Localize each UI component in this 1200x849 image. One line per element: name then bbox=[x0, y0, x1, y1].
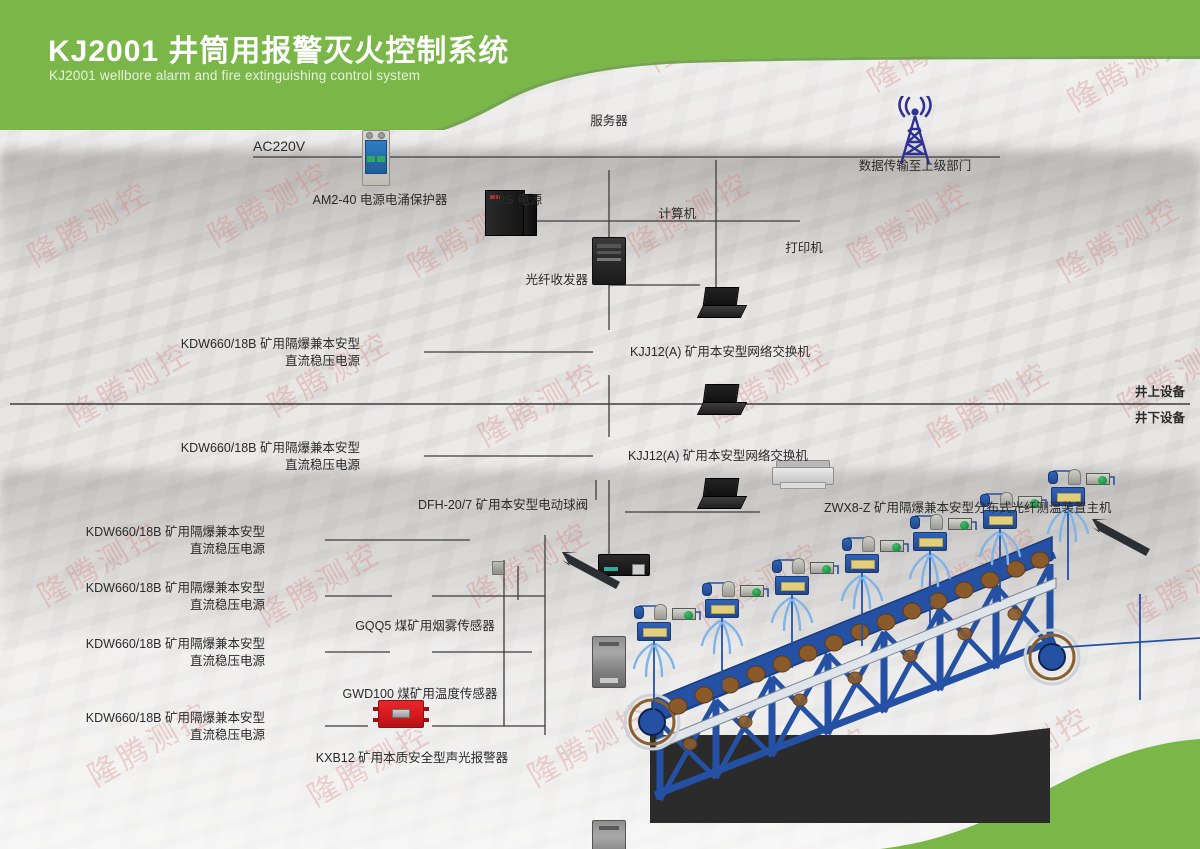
arrow-to-valve bbox=[562, 552, 620, 589]
arrow-to-zwx bbox=[1092, 519, 1150, 556]
annotation-arrows bbox=[0, 0, 1200, 849]
diagram-page: 隆腾测控隆腾测控隆腾测控隆腾测控隆腾测控隆腾测控隆腾测控隆腾测控隆腾测控隆腾测控… bbox=[0, 0, 1200, 849]
